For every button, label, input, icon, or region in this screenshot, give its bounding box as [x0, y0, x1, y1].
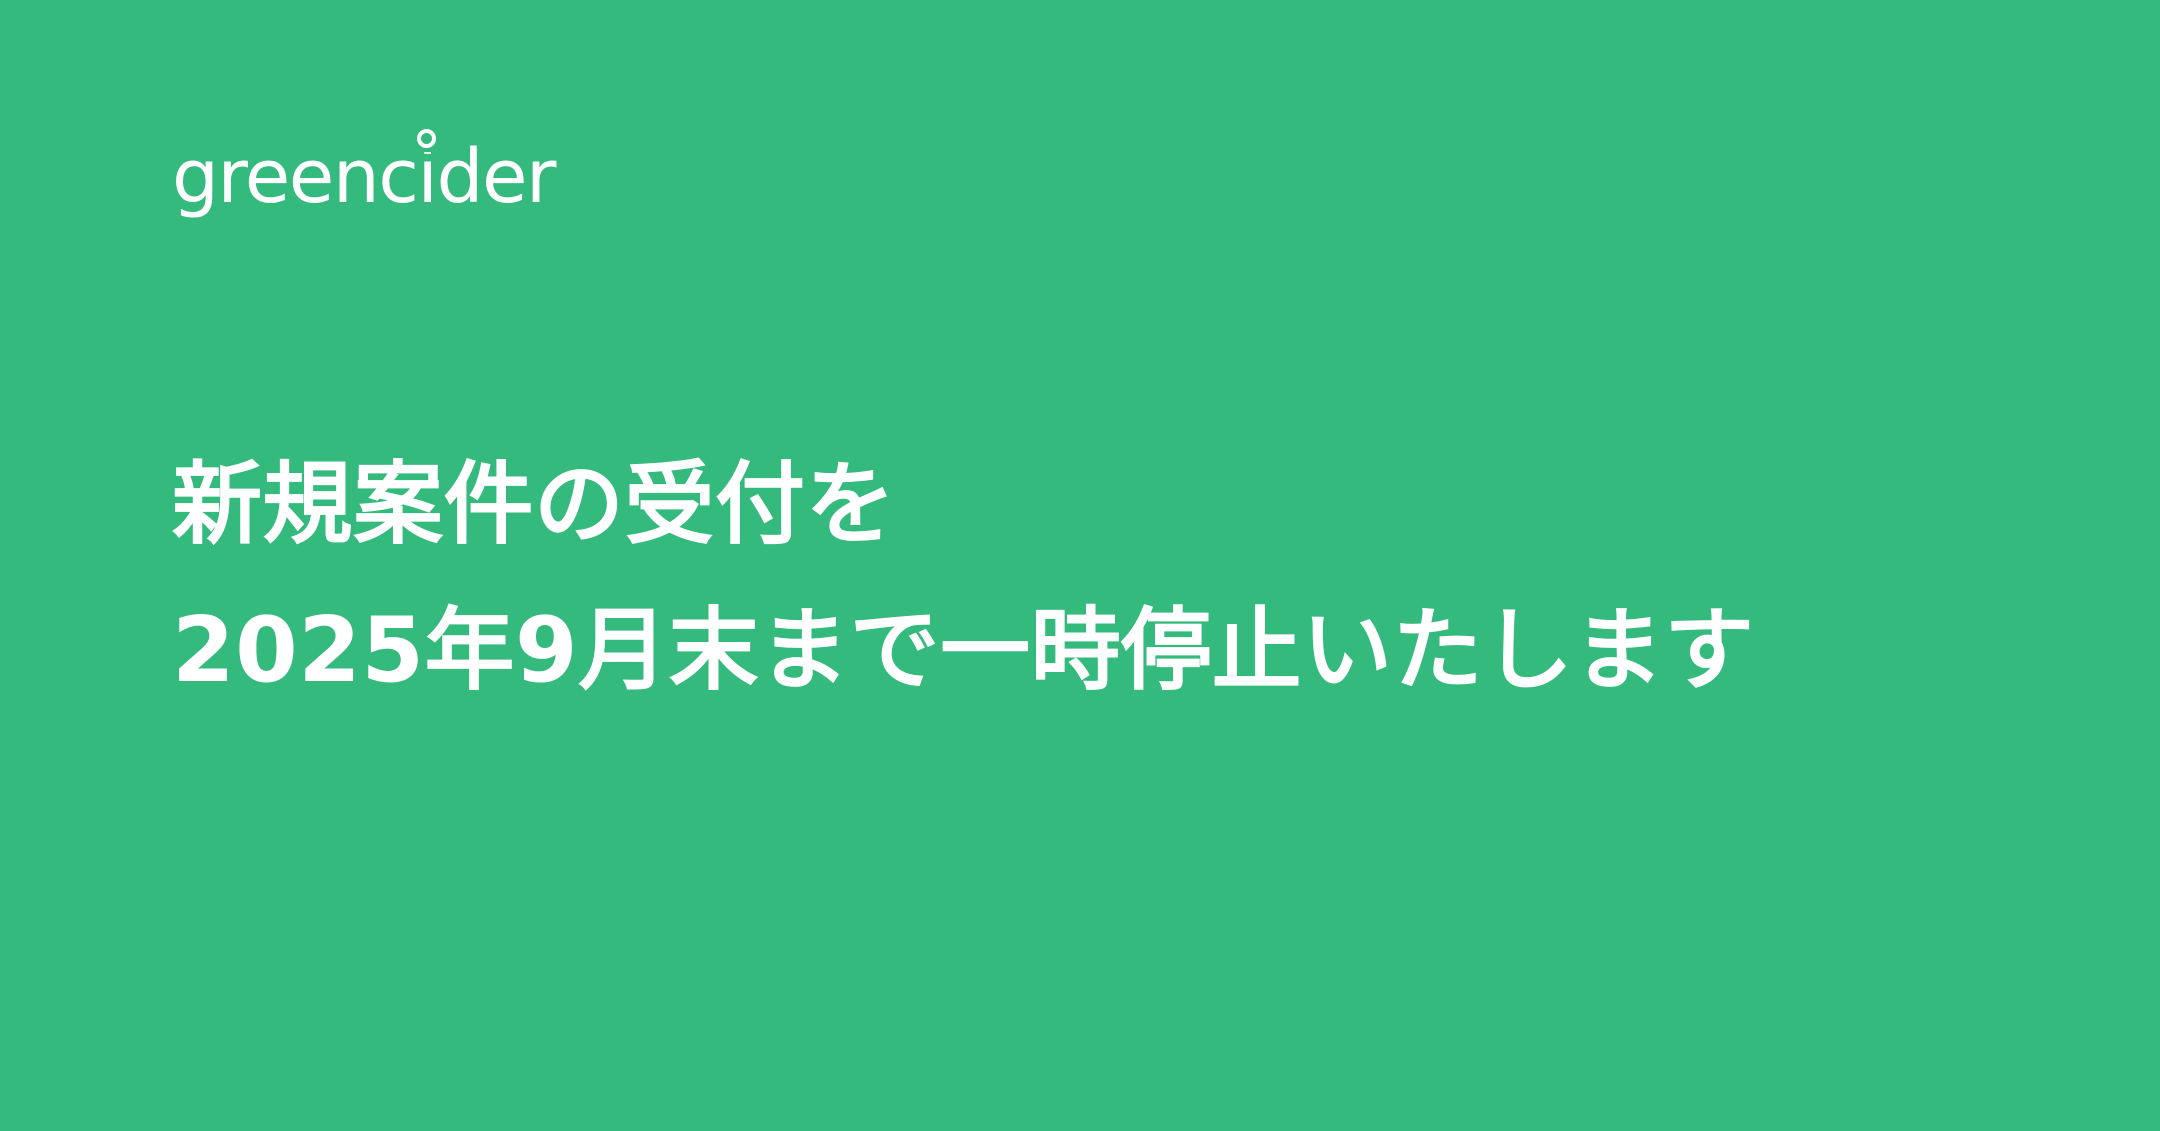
page-title-line-1: 新規案件の受付を — [172, 432, 2032, 578]
brand-logo[interactable]: greencider — [172, 128, 555, 214]
ring-dot-icon — [417, 129, 436, 148]
page-title-line-2: 2025年9月末まで一時停止いたします — [172, 578, 2032, 724]
announcement-banner: greencider 新規案件の受付を 2025年9月末まで一時停止いたします — [0, 0, 2160, 1131]
brand-logo-wordmark: greencider — [172, 140, 555, 214]
page-title: 新規案件の受付を 2025年9月末まで一時停止いたします — [172, 432, 2032, 724]
